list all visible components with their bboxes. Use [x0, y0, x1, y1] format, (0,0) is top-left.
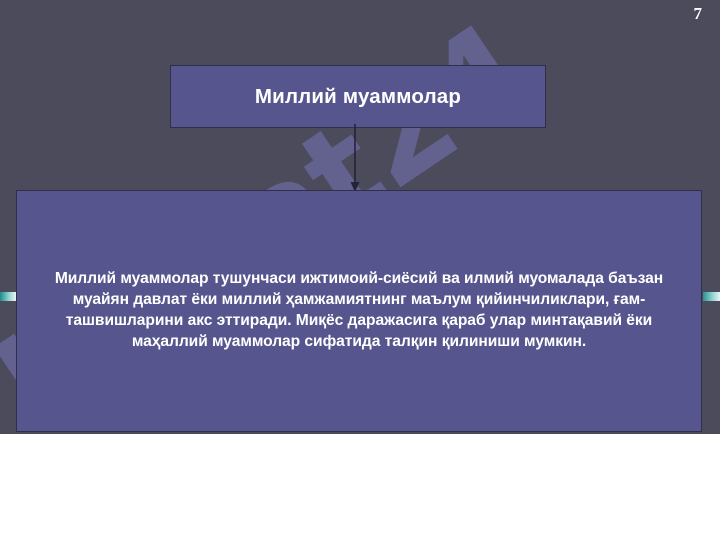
title-box-label: Миллий муаммолар	[255, 85, 461, 109]
body-box: Миллий муаммолар тушунчаси ижтимоий-сиёс…	[16, 190, 702, 432]
down-arrow-icon	[340, 124, 370, 192]
title-box: Миллий муаммолар	[170, 65, 546, 128]
body-box-paragraph: Миллий муаммолар тушунчаси ижтимоий-сиёс…	[17, 269, 701, 353]
slide-canvas: Hujjat24 Hujjat24 Hujjat24 7 Миллий муам…	[0, 0, 720, 540]
page-number: 7	[694, 4, 703, 24]
